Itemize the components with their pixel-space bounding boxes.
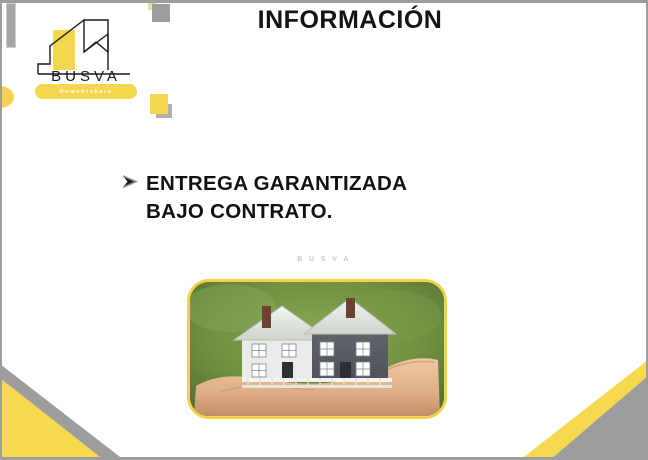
left-yellow-blob — [0, 86, 14, 108]
square-low-decoration — [150, 94, 168, 114]
logo-tagline-pill: Homebrokers — [35, 84, 137, 99]
slide-title: INFORMACIÓN — [200, 6, 500, 35]
slide-border-left — [0, 0, 2, 460]
busva-logo: BUSVA Homebrokers — [26, 12, 146, 110]
house-photo — [187, 279, 447, 419]
logo-wordmark: BUSVA — [26, 68, 146, 85]
arrow-bullet-icon — [122, 170, 146, 190]
hand-holding-model-house-image — [190, 282, 444, 416]
square-top-decoration — [152, 4, 170, 22]
left-accent-bar — [6, 3, 16, 48]
bullet-text: ENTREGA GARANTIZADA BAJO CONTRATO. — [146, 170, 407, 225]
slide-border-top — [0, 0, 648, 3]
corner-decoration-bottom-right — [520, 360, 648, 460]
busva-watermark: B U S V A — [0, 256, 648, 263]
logo-tagline: Homebrokers — [59, 89, 112, 95]
corner-decoration-bottom-left — [0, 364, 124, 460]
bullet-item: ENTREGA GARANTIZADA BAJO CONTRATO. — [122, 170, 407, 225]
presentation-slide: BUSVA Homebrokers INFORMACIÓN ENTREGA GA… — [0, 0, 648, 460]
